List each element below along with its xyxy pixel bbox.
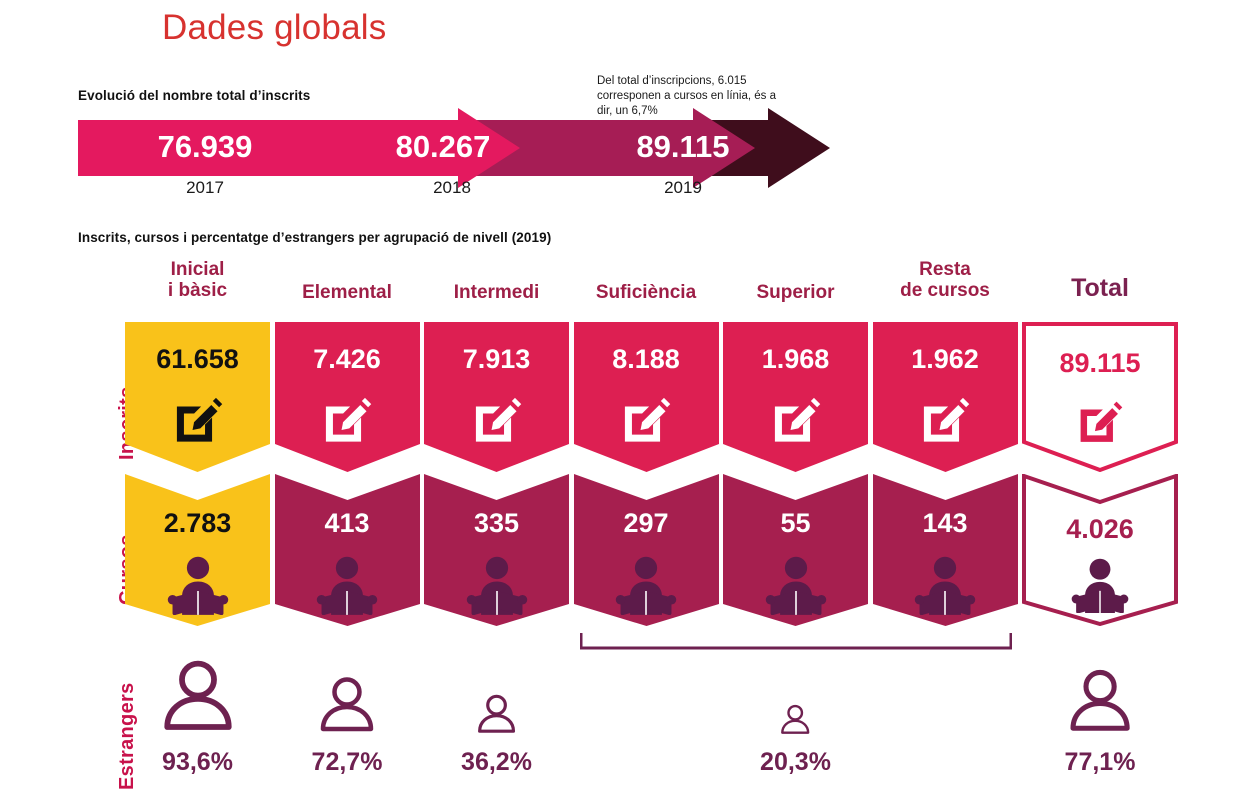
pencil-square-icon	[920, 394, 970, 444]
cursos-icon-wrap	[574, 556, 719, 626]
column-header-elemental: Elemental	[275, 282, 420, 303]
year-label-2019: 2019	[623, 178, 743, 198]
evolution-arrow-chart: 76.93980.26789.115	[0, 108, 1246, 188]
cursos-value: 143	[873, 508, 1018, 539]
estrangers-person-icon-intermedi	[474, 691, 519, 741]
pencil-square-icon	[771, 394, 821, 444]
person-outline-icon	[778, 702, 812, 736]
column-header-total: Total	[1022, 274, 1178, 302]
estrangers-person-icon-total	[1064, 664, 1136, 741]
inscrits-icon-wrap	[424, 394, 569, 449]
cursos-value: 297	[574, 508, 719, 539]
banner-shape-total	[1022, 322, 1178, 472]
inscrits-icon-wrap	[125, 394, 270, 449]
page-title: Dades globals	[162, 8, 386, 48]
cursos-icon-wrap	[424, 556, 569, 626]
person-reading-icon	[913, 556, 977, 615]
person-outline-icon	[474, 691, 519, 736]
person-reading-icon	[614, 556, 678, 615]
pencil-square-icon	[472, 394, 522, 444]
column-header-line2: i bàsic	[168, 280, 227, 301]
inscrits-banner: 8.188	[574, 322, 719, 472]
inscrits-icon-wrap	[574, 394, 719, 449]
person-reading-icon	[1070, 558, 1130, 613]
inscrits-banner-total: 89.115	[1022, 322, 1178, 472]
cursos-icon-wrap	[275, 556, 420, 626]
levels-caption: Inscrits, cursos i percentatge d’estrang…	[78, 230, 551, 245]
inscrits-value-total: 89.115	[1022, 348, 1178, 379]
cursos-icon-wrap	[125, 556, 270, 626]
column-header-line1: Suficiència	[596, 282, 696, 303]
year-label-2017: 2017	[145, 178, 265, 198]
estrangers-person-icon-grouped	[778, 702, 812, 741]
cursos-banner: 335	[424, 474, 569, 626]
estrangers-person-icon-inicial	[157, 654, 239, 741]
cursos-value-total: 4.026	[1022, 514, 1178, 545]
grouping-bracket	[580, 632, 1012, 654]
column-header-superior: Superior	[723, 282, 868, 303]
person-reading-icon	[465, 556, 529, 615]
evolution-value-2019: 89.115	[636, 129, 729, 164]
person-reading-icon	[764, 556, 828, 615]
column-header-line1: Resta	[919, 259, 971, 280]
column-header-resta: Restade cursos	[873, 259, 1018, 302]
inscrits-banner: 1.968	[723, 322, 868, 472]
inscrits-value: 8.188	[574, 344, 719, 375]
pencil-square-icon	[322, 394, 372, 444]
cursos-icon-wrap-total	[1022, 558, 1178, 626]
column-header-line1: Intermedi	[454, 282, 540, 303]
column-header-line1: Inicial	[171, 259, 225, 280]
cursos-value: 335	[424, 508, 569, 539]
column-header-suficincia: Suficiència	[574, 282, 719, 303]
cursos-value: 2.783	[125, 508, 270, 539]
cursos-banner: 413	[275, 474, 420, 626]
inscrits-banner: 7.913	[424, 322, 569, 472]
estrangers-percent-total: 77,1%	[1010, 748, 1190, 777]
inscrits-icon-wrap	[723, 394, 868, 449]
inscrits-value: 61.658	[125, 344, 270, 375]
column-header-line2: de cursos	[900, 280, 990, 301]
cursos-banner: 55	[723, 474, 868, 626]
cursos-icon-wrap	[873, 556, 1018, 626]
person-reading-icon	[166, 556, 230, 615]
person-reading-icon	[315, 556, 379, 615]
year-label-2018: 2018	[392, 178, 512, 198]
cursos-banner: 143	[873, 474, 1018, 626]
cursos-value: 413	[275, 508, 420, 539]
bracket-shape	[580, 632, 1012, 654]
pencil-square-icon	[1077, 398, 1123, 444]
cursos-value: 55	[723, 508, 868, 539]
inscrits-banner: 7.426	[275, 322, 420, 472]
person-outline-icon	[315, 672, 379, 736]
inscrits-icon-wrap-total	[1022, 398, 1178, 449]
inscrits-banner: 1.962	[873, 322, 1018, 472]
inscrits-value: 7.426	[275, 344, 420, 375]
person-outline-icon	[1064, 664, 1136, 736]
pencil-square-icon	[621, 394, 671, 444]
cursos-icon-wrap	[723, 556, 868, 626]
estrangers-percent-grouped: 20,3%	[706, 748, 886, 777]
estrangers-percent-intermedi: 36,2%	[407, 748, 587, 777]
person-outline-icon	[157, 654, 239, 736]
cursos-banner-total: 4.026	[1022, 474, 1178, 626]
evolution-value-2018: 80.267	[396, 129, 491, 164]
column-header-inicial: Iniciali bàsic	[125, 259, 270, 302]
column-header-line1: Superior	[756, 282, 834, 303]
estrangers-person-icon-elemental	[315, 672, 379, 741]
evolution-value-2017: 76.939	[158, 129, 253, 164]
infographic-root: Dades globals Evolució del nombre total …	[0, 0, 1246, 800]
inscrits-icon-wrap	[275, 394, 420, 449]
cursos-banner: 297	[574, 474, 719, 626]
inscrits-icon-wrap	[873, 394, 1018, 449]
column-header-line1: Elemental	[302, 282, 392, 303]
cursos-banner: 2.783	[125, 474, 270, 626]
pencil-square-icon	[173, 394, 223, 444]
inscrits-value: 1.968	[723, 344, 868, 375]
column-header-intermedi: Intermedi	[424, 282, 569, 303]
inscrits-banner: 61.658	[125, 322, 270, 472]
inscrits-value: 1.962	[873, 344, 1018, 375]
inscrits-value: 7.913	[424, 344, 569, 375]
evolution-caption: Evolució del nombre total d’inscrits	[78, 88, 310, 103]
